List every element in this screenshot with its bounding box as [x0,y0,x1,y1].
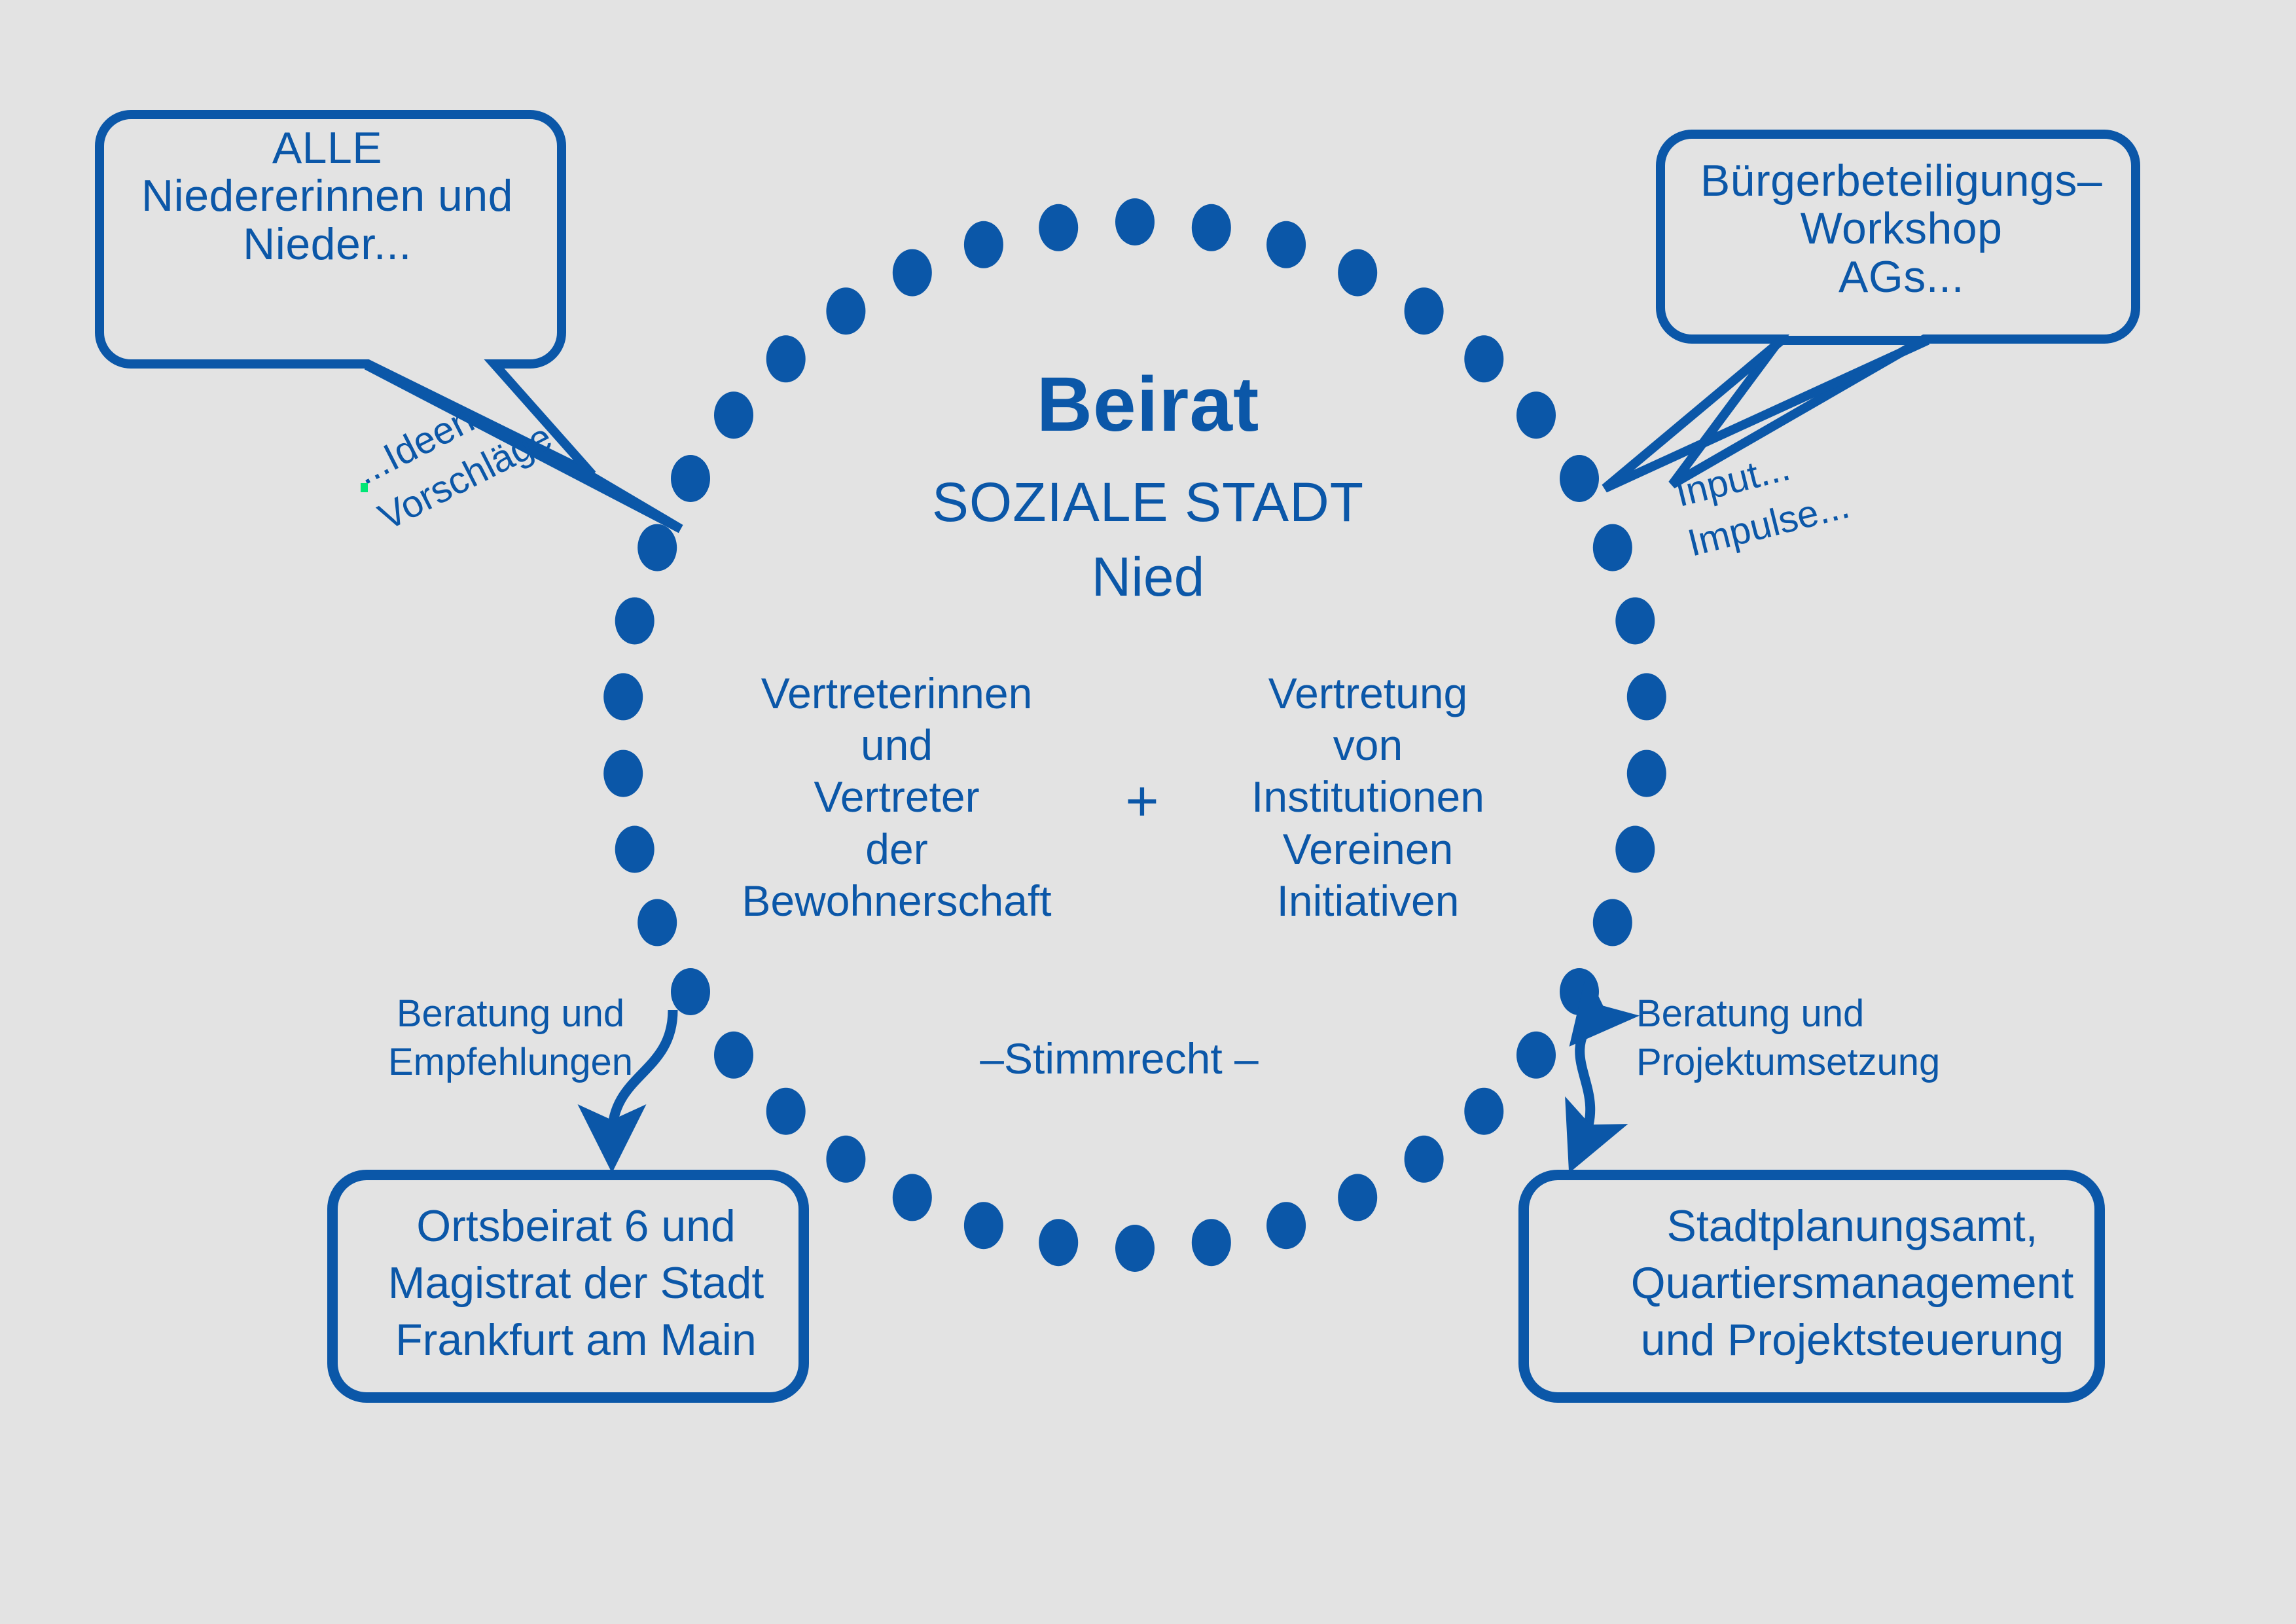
circle-dot [766,335,806,382]
circle-dot [1115,198,1155,245]
circle-dot [826,1136,865,1183]
circle-dot [1593,524,1632,571]
bubble-left-label: ALLE Niedererinnen und Nieder... [98,124,556,268]
diagram-canvas: ALLE Niedererinnen und Nieder... Bürgerb… [0,0,2296,1624]
circle-dot [1560,968,1599,1015]
center-column-left: Vertreterinnen und Vertreter der Bewohne… [694,668,1100,927]
circle-dot [1464,1088,1503,1135]
circle-dot [637,899,677,946]
box-ortsbeirat-label: Ortsbeirat 6 und Magistrat der Stadt Fra… [340,1198,812,1369]
circle-dot [1266,1202,1306,1249]
circle-dot [1627,750,1666,797]
circle-dot [1039,204,1078,251]
circle-dot [714,391,753,439]
bubble-right-label: Bürgerbeteiligungs– Workshop AGs... [1672,157,2130,301]
circle-dot [1338,1174,1377,1221]
circle-dot [603,750,643,797]
circle-dot [893,249,932,297]
circle-dot [603,673,643,720]
box-stadtplanungsamt-label: Stadtplanungsamt, Quartiersmanagement un… [1558,1198,2147,1369]
circle-dot [671,455,710,502]
arrow-double-icon [1580,1018,1593,1139]
circle-dot [1039,1219,1078,1266]
annotation-beratung-empfehlungen: Beratung und Empfehlungen [340,990,681,1087]
circle-dot [1338,249,1377,297]
circle-dot [1192,1219,1231,1266]
circle-dot [1516,1032,1556,1079]
green-pixel-artifact [361,483,368,492]
page-subtitle-line2: Nied [821,547,1475,607]
circle-dot [766,1088,806,1135]
circle-dot [1405,287,1444,334]
circle-dot [1560,455,1599,502]
center-column-right: Vertretung von Institutionen Vereinen In… [1198,668,1538,927]
circle-dot [637,524,677,571]
plus-connector: + [1086,772,1198,830]
circle-dot [1615,598,1655,645]
circle-dot [1593,899,1632,946]
page-subtitle-line1: SOZIALE STADT [821,473,1475,532]
annotation-beratung-projektumsetzung: Beratung und Projektumsetzung [1636,990,2003,1087]
circle-dot [615,598,655,645]
circle-dot [826,287,865,334]
circle-dot [1615,826,1655,873]
circle-dot [893,1174,932,1221]
circle-dot [964,221,1003,268]
circle-dot [1627,673,1666,720]
circle-dot [964,1202,1003,1249]
circle-dot [1115,1225,1155,1272]
page-title: Beirat [821,363,1475,446]
stimmrecht-note: –Stimmrecht – [916,1036,1322,1082]
circle-dot [1405,1136,1444,1183]
circle-dot [1516,391,1556,439]
circle-dot [1266,221,1306,268]
circle-dot [615,826,655,873]
circle-dot [714,1032,753,1079]
circle-dot [1192,204,1231,251]
